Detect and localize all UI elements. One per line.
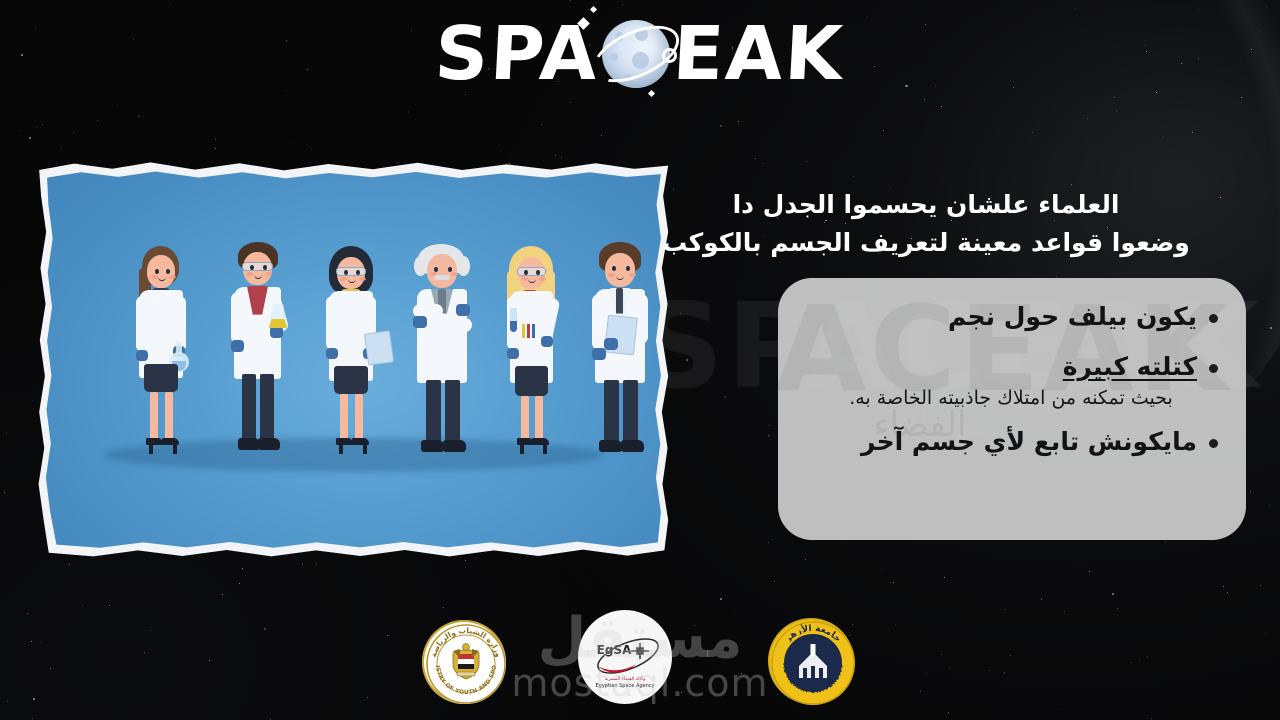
moys-seal-icon: وزارة الشباب والرياضة MINISTRY OF YOUTH … <box>424 622 508 706</box>
star <box>408 111 410 113</box>
star <box>806 161 807 162</box>
star <box>1114 97 1115 98</box>
star <box>1151 718 1152 719</box>
star <box>941 106 942 107</box>
star <box>1227 592 1228 593</box>
star <box>805 559 806 560</box>
star <box>1165 541 1166 542</box>
star <box>1087 118 1088 119</box>
star <box>1116 111 1117 112</box>
slide-heading: العلماء علشان يحسموا الجدل دا وضعوا قواع… <box>606 186 1246 262</box>
star <box>1241 97 1242 98</box>
scientist-woman-blonde <box>492 246 570 458</box>
star <box>36 127 37 128</box>
star <box>1075 8 1076 9</box>
star <box>509 154 510 155</box>
star <box>738 121 739 122</box>
test-tube-icon <box>508 308 518 334</box>
scientist-man-white-hair <box>402 242 484 458</box>
star <box>32 718 33 719</box>
beaker-icon <box>266 304 290 330</box>
star <box>769 425 770 426</box>
egsa-seal-icon: EgSA وكالة الفضاء المصرية Egyptian Space… <box>578 610 672 704</box>
star <box>316 563 317 564</box>
star <box>720 125 722 127</box>
star <box>1192 132 1193 133</box>
scientists-photo <box>36 160 672 560</box>
star <box>109 605 110 606</box>
star <box>853 176 854 177</box>
clipboard-icon <box>364 330 394 365</box>
star <box>680 313 681 314</box>
star <box>138 116 140 118</box>
star <box>29 137 31 139</box>
heading-line-2: وضعوا قواعد معينة لتعريف الجسم بالكوكب <box>606 224 1246 262</box>
star <box>19 130 20 131</box>
star <box>622 4 623 5</box>
star <box>555 155 556 156</box>
star <box>1032 132 1033 133</box>
star <box>6 433 7 434</box>
bullet-text: مايكونش تابع لأي جسم آخر <box>861 425 1197 459</box>
scientist-man-dark-hair <box>218 242 298 458</box>
star <box>948 712 949 713</box>
azhar-seal-icon: جامعة الأزهر AL-AZHAR UNIVERSITY <box>770 620 856 706</box>
star <box>724 396 726 398</box>
star <box>686 359 688 361</box>
scientist-man-brown-hair <box>580 242 662 458</box>
star <box>1163 136 1164 137</box>
star <box>570 0 571 1</box>
al-azhar-university-logo: جامعة الأزهر AL-AZHAR UNIVERSITY <box>768 618 854 704</box>
scientist-woman-brunette <box>122 246 200 458</box>
star <box>1198 10 1199 11</box>
bullet-dot-icon <box>1209 439 1218 448</box>
star <box>302 564 303 565</box>
bullet-text: كتلته كبيرة <box>1063 350 1197 384</box>
star <box>500 151 501 152</box>
brand-logo: SPA EAK <box>0 14 1280 94</box>
slide-root: SPACEAK الفضاء SPA EAK <box>0 0 1280 720</box>
star <box>1112 593 1114 595</box>
bullet-dot-icon <box>1209 364 1218 373</box>
star <box>601 135 602 136</box>
moustache-icon <box>434 275 450 280</box>
star <box>1267 7 1268 8</box>
star <box>1056 276 1057 277</box>
star <box>1223 586 1224 587</box>
photo-canvas <box>44 170 664 550</box>
list-item: يكون بيلف حول نجم <box>804 300 1218 334</box>
star <box>290 142 291 143</box>
list-item: مايكونش تابع لأي جسم آخر <box>804 425 1218 459</box>
star <box>1089 571 1090 572</box>
svg-text:EgSA: EgSA <box>597 643 632 657</box>
list-item: كتلته كبيرة <box>804 350 1218 384</box>
star <box>755 158 756 159</box>
star <box>768 542 769 543</box>
svg-text:وكالة الفضاء المصرية: وكالة الفضاء المصرية <box>605 676 646 682</box>
svg-text:Egyptian Space Agency: Egyptian Space Agency <box>595 683 654 689</box>
star <box>541 124 542 125</box>
star <box>1250 491 1251 492</box>
star <box>73 132 74 133</box>
star <box>561 157 562 158</box>
star <box>4 492 5 493</box>
star <box>117 105 118 106</box>
star <box>97 120 98 121</box>
egyptian-space-agency-logo: EgSA وكالة الفضاء المصرية Egyptian Space… <box>578 610 672 704</box>
star <box>924 99 925 100</box>
star <box>239 583 240 584</box>
star <box>893 582 894 583</box>
heading-line-1: العلماء علشان يحسموا الجدل دا <box>606 186 1246 224</box>
bullet-list: يكون بيلف حول نجم كتلته كبيرة بحيث تمكنه… <box>778 278 1246 459</box>
star <box>1061 709 1062 710</box>
star <box>720 598 722 600</box>
star <box>61 148 62 149</box>
star <box>311 149 312 150</box>
star <box>944 577 945 578</box>
star <box>222 594 223 595</box>
planet-crater <box>650 72 656 78</box>
star <box>883 130 884 131</box>
star <box>774 581 775 582</box>
scientist-woman-black-hair <box>312 246 390 458</box>
footer-logos: وزارة الشباب والرياضة MINISTRY OF YOUTH … <box>0 608 1280 704</box>
star <box>82 605 83 606</box>
ministry-of-youth-and-sports-logo: وزارة الشباب والرياضة MINISTRY OF YOUTH … <box>422 620 506 704</box>
star <box>215 139 216 140</box>
star <box>1041 599 1042 600</box>
bullet-subtext: بحيث تمكنه من امتلاك جاذبيته الخاصة به. <box>804 386 1218 412</box>
star <box>1260 585 1261 586</box>
sparkle-icon <box>590 6 597 13</box>
star <box>768 435 769 436</box>
star <box>570 102 571 103</box>
brand-logo-text-right: EAK <box>671 17 846 91</box>
bullet-dot-icon <box>1209 314 1218 323</box>
star <box>42 124 43 125</box>
star <box>242 568 243 569</box>
star <box>1270 327 1272 329</box>
planet-icon <box>593 11 679 97</box>
pocket-pens-icon <box>522 324 535 338</box>
star <box>1269 506 1270 507</box>
definition-card: SPACEAK الفضاء يكون بيلف حول نجم كتلته ك… <box>778 278 1246 540</box>
star <box>763 163 764 164</box>
bullet-text: يكون بيلف حول نجم <box>948 300 1197 334</box>
star <box>170 3 171 4</box>
star <box>69 564 70 565</box>
star <box>881 569 882 570</box>
star <box>215 148 216 149</box>
brand-logo-text-left: SPA <box>433 17 601 91</box>
sparkle-icon <box>648 90 655 97</box>
